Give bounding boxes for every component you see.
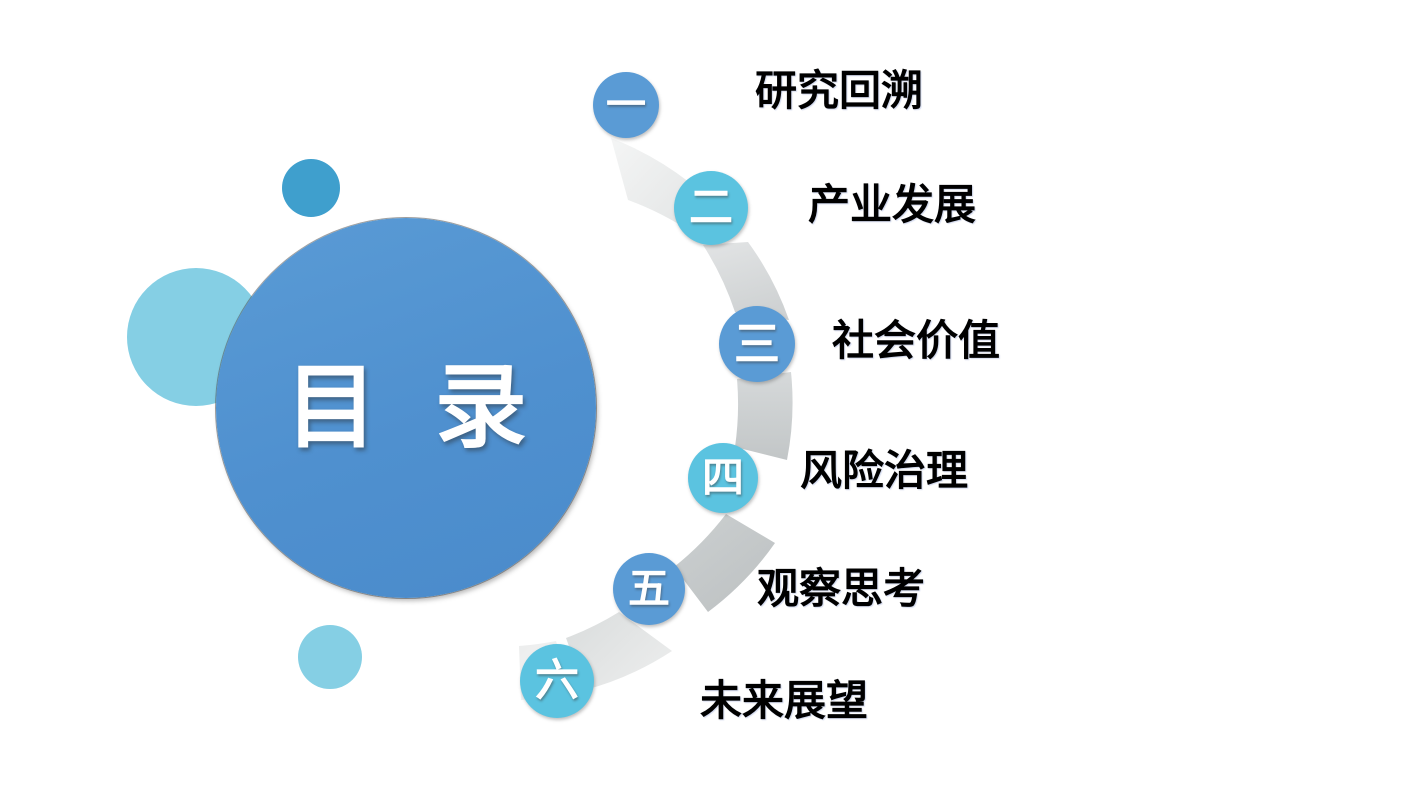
- item-label-2[interactable]: 产业发展: [808, 184, 976, 226]
- bullet-numeral-5: 五: [628, 568, 670, 610]
- bullet-numeral-6: 六: [535, 659, 579, 703]
- bullet-numeral-4: 四: [702, 457, 744, 499]
- hub-circle: 目 录: [216, 218, 596, 598]
- slide-canvas: 目 录 一 研究回溯 二 产业发展 三 社会价值 四 风险治理 五 观察思考 六…: [0, 0, 1407, 793]
- bullet-circle-3[interactable]: 三: [719, 306, 795, 382]
- item-label-1[interactable]: 研究回溯: [755, 70, 923, 112]
- item-label-6[interactable]: 未来展望: [700, 680, 868, 722]
- bullet-numeral-1: 一: [606, 85, 646, 125]
- item-label-5[interactable]: 观察思考: [757, 568, 925, 610]
- bullet-circle-5[interactable]: 五: [613, 553, 685, 625]
- bullet-circle-2[interactable]: 二: [674, 171, 748, 245]
- bullet-numeral-2: 二: [689, 186, 733, 230]
- item-label-4[interactable]: 风险治理: [800, 450, 968, 492]
- deco-circle-top: [282, 159, 340, 217]
- item-label-3[interactable]: 社会价值: [832, 320, 1000, 362]
- bullet-circle-4[interactable]: 四: [688, 443, 758, 513]
- arc-segment-3: [735, 372, 793, 460]
- bullet-circle-1[interactable]: 一: [593, 72, 659, 138]
- deco-circle-bottom: [298, 625, 362, 689]
- hub-title: 目 录: [269, 362, 543, 454]
- bullet-circle-6[interactable]: 六: [520, 644, 594, 718]
- bullet-numeral-3: 三: [734, 321, 780, 367]
